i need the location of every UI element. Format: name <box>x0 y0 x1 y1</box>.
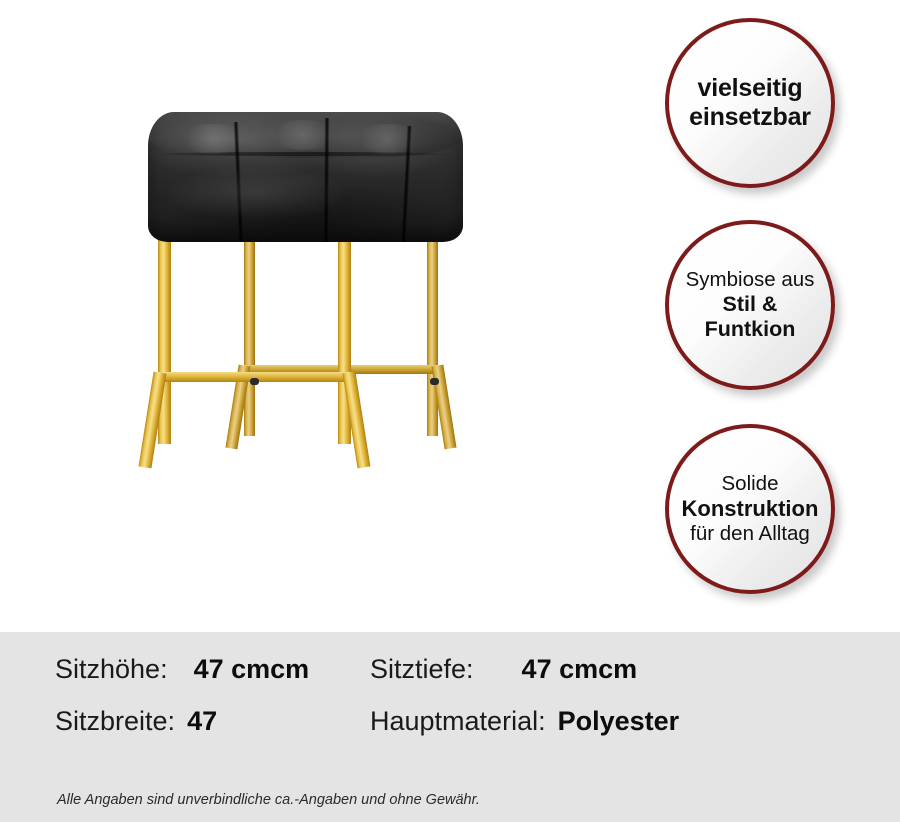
badge-line: vielseitig <box>690 74 811 103</box>
spec-label: Sitzhöhe: <box>55 654 168 685</box>
feature-badge-stil-und-funktion: Symbiose aus Stil & Funtkion <box>665 220 835 390</box>
spec-value: 47 cmcm <box>522 654 638 685</box>
specification-panel: Sitzhöhe: 47 cmcm Sitztiefe: 47 cmcm Sit… <box>0 632 900 822</box>
seat-tuft-2 <box>268 120 338 150</box>
spec-label: Sitztiefe: <box>370 654 474 685</box>
stool-illustration <box>140 100 470 470</box>
rear-right-leg <box>427 228 438 436</box>
badge-line: einsetzbar <box>681 103 819 132</box>
spec-item-hauptmaterial: Hauptmaterial: Polyester <box>370 706 790 737</box>
spec-item-sitztiefe: Sitztiefe: 47 cmcm <box>370 654 790 685</box>
spec-value: Polyester <box>558 706 680 737</box>
product-image-page: vielseitig einsetzbar Symbiose aus Stil … <box>0 0 900 822</box>
spec-item-sitzbreite: Sitzbreite: 47 <box>55 706 370 737</box>
seat-tuft-1 <box>178 124 248 154</box>
badge-line: für den Alltag <box>682 522 818 546</box>
spec-label: Sitzbreite: <box>55 706 175 737</box>
spec-label: Hauptmaterial: <box>370 706 546 737</box>
specification-grid: Sitzhöhe: 47 cmcm Sitztiefe: 47 cmcm Sit… <box>55 654 855 758</box>
seat-highlight <box>166 166 346 220</box>
product-photo <box>0 0 640 632</box>
badge-line: Konstruktion <box>674 496 827 522</box>
badge-line: Stil & Funtkion <box>669 292 831 342</box>
floor-glide-left <box>250 378 259 385</box>
spec-value: 47 <box>187 706 217 737</box>
badge-line: Symbiose aus <box>678 268 823 292</box>
spec-item-sitzhoehe: Sitzhöhe: 47 cmcm <box>55 654 370 685</box>
spec-row: Sitzbreite: 47 Hauptmaterial: Polyester <box>55 706 855 758</box>
feature-badge-solide-konstruktion: Solide Konstruktion für den Alltag <box>665 424 835 594</box>
floor-glide-right <box>430 378 439 385</box>
feature-badge-vielseitig-einsetzbar: vielseitig einsetzbar <box>665 18 835 188</box>
badge-line: Solide <box>714 472 787 496</box>
rear-left-leg <box>244 228 255 436</box>
spec-row: Sitzhöhe: 47 cmcm Sitztiefe: 47 cmcm <box>55 654 855 706</box>
disclaimer-text: Alle Angaben sind unverbindliche ca.-Ang… <box>57 792 480 808</box>
seat-tuft-3 <box>353 124 423 154</box>
spec-value: 47 cmcm <box>194 654 310 685</box>
seat-cushion <box>148 112 463 242</box>
